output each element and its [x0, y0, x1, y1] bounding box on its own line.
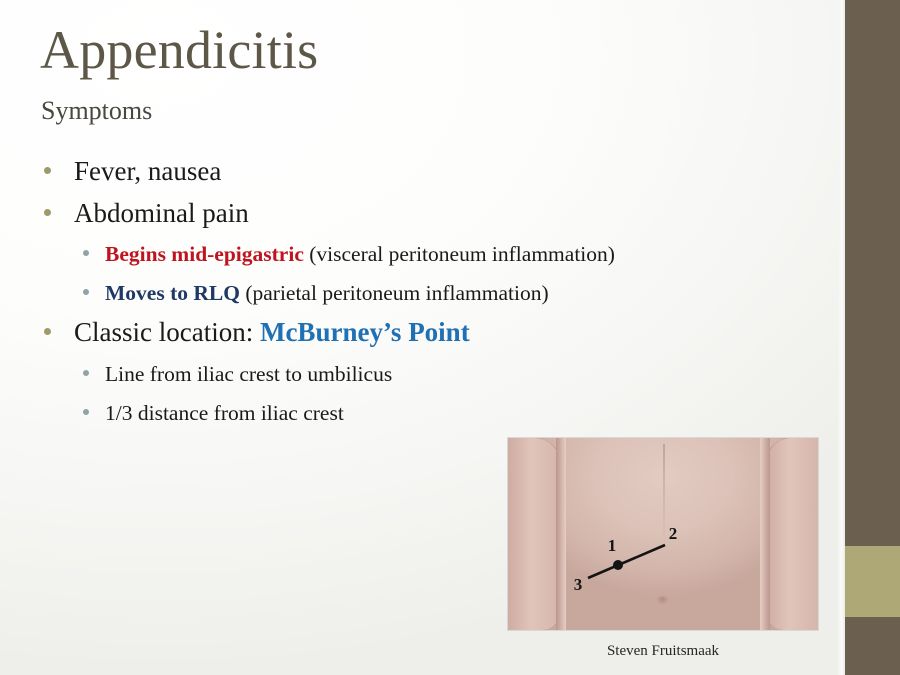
list-item-label: Line from iliac crest to umbilicus [105, 355, 392, 393]
bullet-dot-icon [44, 209, 51, 216]
label-point-3: 3 [574, 575, 583, 594]
list-item: Moves to RLQ (parietal peritoneum inflam… [40, 274, 830, 312]
list-item-label: Abdominal pain [74, 194, 249, 233]
page-title: Appendicitis [40, 22, 318, 79]
bullet-dot-icon [83, 250, 89, 256]
photo-caption: Steven Fruitsmaak [508, 643, 818, 660]
bullet-dot-icon [44, 328, 51, 335]
list-item: Classic location: McBurney’s Point [40, 313, 830, 352]
list-item-detail: (visceral peritoneum inflammation) [304, 242, 615, 266]
emphasis-text: Begins mid-epigastric [105, 242, 304, 266]
mcburney-point-marker [613, 560, 623, 570]
list-item: Begins mid-epigastric (visceral peritone… [40, 235, 830, 273]
bullet-dot-icon [83, 370, 89, 376]
list-item: Abdominal pain [40, 194, 830, 233]
sidebar-bar-bottom [845, 617, 900, 675]
list-item-label: 1/3 distance from iliac crest [105, 394, 344, 432]
slide-canvas: Appendicitis Symptoms Fever, nausea Abdo… [0, 0, 900, 675]
sidebar-gutter [838, 0, 845, 675]
list-item: Fever, nausea [40, 152, 830, 191]
bullet-dot-icon [83, 409, 89, 415]
sidebar-bar-top [845, 0, 900, 546]
emphasis-text: McBurney’s Point [260, 317, 470, 347]
list-item-detail: (parietal peritoneum inflammation) [240, 281, 549, 305]
emphasis-text: Moves to RLQ [105, 281, 240, 305]
list-item-detail: Classic location: [74, 317, 260, 347]
bullet-dot-icon [44, 167, 51, 174]
list-item-label: Classic location: McBurney’s Point [74, 313, 470, 352]
list-item-label: Begins mid-epigastric (visceral peritone… [105, 235, 615, 273]
mcburney-line-diagram: 1 2 3 [508, 438, 818, 630]
list-item: Line from iliac crest to umbilicus [40, 355, 830, 393]
bullet-dot-icon [83, 289, 89, 295]
page-subtitle: Symptoms [41, 96, 152, 126]
list-item: 1/3 distance from iliac crest [40, 394, 830, 432]
label-point-2: 2 [669, 524, 678, 543]
bullet-list: Fever, nausea Abdominal pain Begins mid-… [40, 152, 830, 433]
label-point-1: 1 [608, 536, 617, 555]
sidebar-bar-khaki [845, 546, 900, 617]
list-item-label: Fever, nausea [74, 152, 221, 191]
iliac-umbilicus-line [588, 545, 665, 578]
abdomen-photo: 1 2 3 [508, 438, 818, 630]
list-item-label: Moves to RLQ (parietal peritoneum inflam… [105, 274, 549, 312]
